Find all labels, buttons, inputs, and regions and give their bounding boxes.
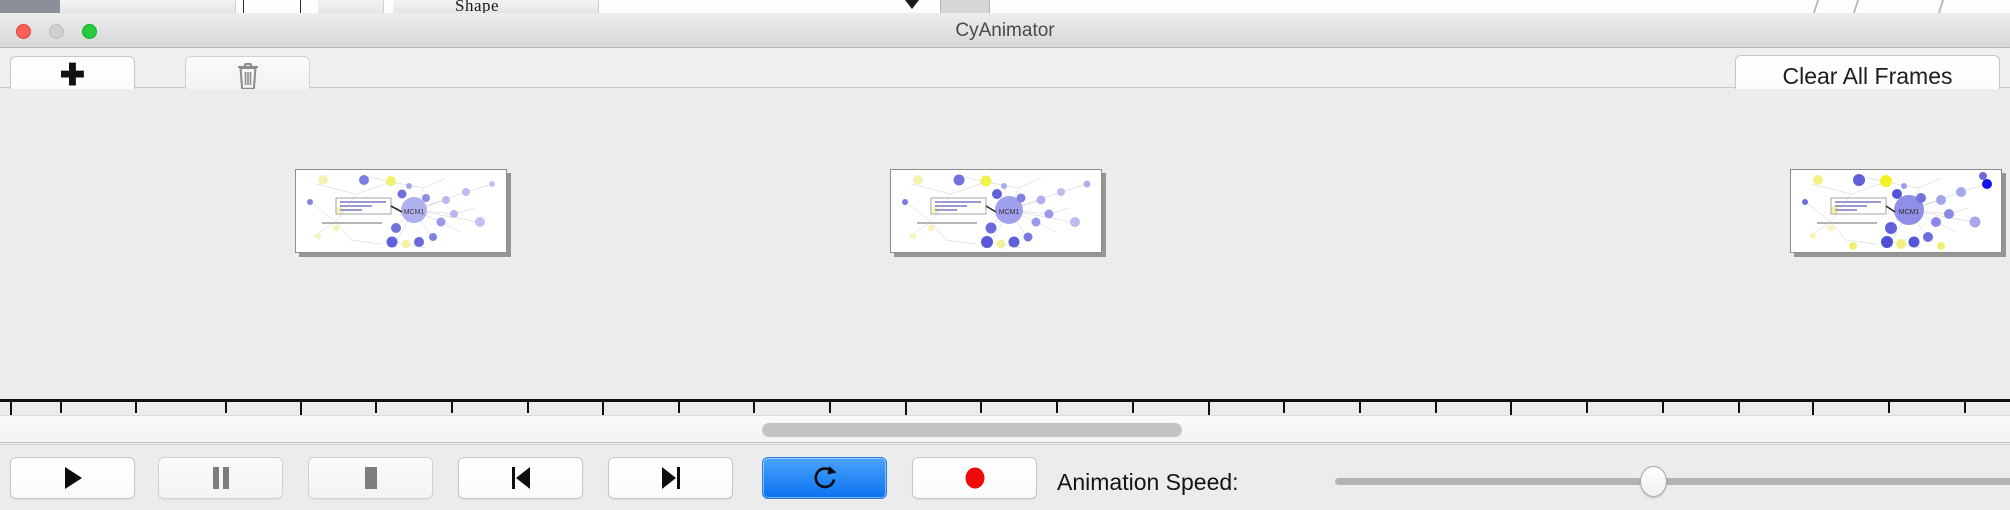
axis-tick-major: [300, 402, 302, 415]
background-slash-2: [1853, 0, 1859, 13]
loop-button[interactable]: [762, 457, 887, 499]
timeline-panel[interactable]: MCM1: [0, 89, 2010, 415]
axis-tick-minor: [678, 402, 680, 413]
axis-tick-minor: [1283, 402, 1285, 413]
axis-tick-minor: [60, 402, 62, 413]
axis-tick-major: [10, 402, 12, 415]
axis-tick-minor: [135, 402, 137, 413]
axis-tick-minor: [375, 402, 377, 413]
network-graph-preview: MCM1: [1791, 170, 2001, 252]
axis-tick-minor: [753, 402, 755, 413]
frame-thumbnail[interactable]: MCM1: [890, 169, 1102, 253]
background-slash-1: [1813, 0, 1819, 13]
background-selected-block: [940, 0, 990, 13]
axis-tick-minor: [1662, 402, 1664, 413]
background-tick-1: [243, 0, 244, 13]
axis-tick-minor: [1964, 402, 1966, 413]
axis-tick-major: [1208, 402, 1210, 415]
skip-forward-icon: [659, 466, 683, 490]
timeline-horizontal-scrollbar[interactable]: [0, 415, 2010, 443]
axis-tick-minor: [980, 402, 982, 413]
plus-icon: ✚: [60, 61, 85, 91]
svg-text:MCM1: MCM1: [404, 209, 425, 216]
axis-tick-minor: [829, 402, 831, 413]
stop-icon: [361, 466, 381, 490]
axis-tick-minor: [451, 402, 453, 413]
clear-all-frames-label: Clear All Frames: [1783, 63, 1953, 90]
axis-tick-minor: [1359, 402, 1361, 413]
background-block-1: [60, 0, 176, 13]
pause-icon: [211, 466, 231, 490]
background-block-2: [175, 0, 236, 13]
cyanimator-window: Shape CyAnimator ✚ Clear All Frames: [0, 0, 2010, 510]
axis-tick-minor: [1738, 402, 1740, 413]
pause-button[interactable]: [158, 457, 283, 499]
window-title: CyAnimator: [0, 13, 2010, 48]
trash-icon: [236, 62, 260, 90]
network-graph-preview: MCM1: [296, 170, 506, 252]
play-icon: [62, 466, 84, 490]
axis-tick-minor: [1888, 402, 1890, 413]
record-button[interactable]: [912, 457, 1037, 499]
frame-thumbnail[interactable]: MCM1: [295, 169, 507, 253]
frame-toolbar: ✚ Clear All Frames: [0, 48, 2010, 88]
network-graph-preview: MCM1: [891, 170, 1101, 252]
svg-text:MCM1: MCM1: [1899, 209, 1920, 216]
axis-tick-major: [905, 402, 907, 415]
frame-thumbnail[interactable]: MCM1: [1790, 169, 2002, 253]
skip-to-end-button[interactable]: [608, 457, 733, 499]
axis-tick-major: [1510, 402, 1512, 415]
scrollbar-thumb[interactable]: [762, 423, 1182, 437]
skip-back-icon: [509, 466, 533, 490]
play-button[interactable]: [10, 457, 135, 499]
axis-tick-minor: [527, 402, 529, 413]
animation-speed-label: Animation Speed:: [1057, 469, 1239, 496]
skip-to-start-button[interactable]: [458, 457, 583, 499]
background-block-3: [318, 0, 384, 13]
background-window-label: Shape: [455, 0, 499, 13]
background-toolbar-block: [0, 0, 60, 13]
background-slash-3: [1938, 0, 1944, 13]
record-icon: [963, 466, 987, 490]
loop-icon: [812, 464, 838, 492]
background-tick-2: [300, 0, 301, 13]
animation-speed-slider[interactable]: [1335, 478, 2010, 485]
axis-tick-minor: [1435, 402, 1437, 413]
background-window-strip: Shape: [0, 0, 2010, 13]
title-bar: CyAnimator: [0, 13, 2010, 48]
svg-text:MCM1: MCM1: [999, 209, 1020, 216]
axis-tick-minor: [1586, 402, 1588, 413]
axis-tick-minor: [1132, 402, 1134, 413]
frames-layer: MCM1: [0, 89, 2010, 309]
animation-speed-slider-thumb[interactable]: [1640, 466, 1667, 497]
axis-tick-minor: [225, 402, 227, 413]
stop-button[interactable]: [308, 457, 433, 499]
background-caret-icon: [905, 0, 919, 9]
axis-tick-major: [1812, 402, 1814, 415]
axis-tick-minor: [1056, 402, 1058, 413]
playback-toolbar: Animation Speed:: [0, 444, 2010, 510]
axis-tick-major: [602, 402, 604, 415]
